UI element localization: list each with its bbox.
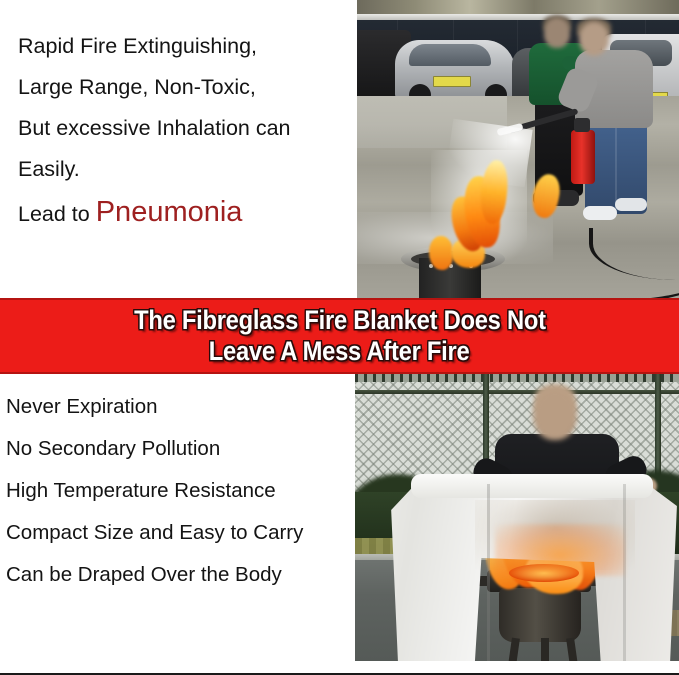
fire-extinguisher-demo-photo xyxy=(357,0,679,300)
warning-line-5: Lead to Pneumonia xyxy=(18,190,349,236)
fire-extinguisher xyxy=(571,130,595,184)
feature-list-block: Never Expiration No Secondary Pollution … xyxy=(0,374,357,673)
banner-line-2: Leave A Mess After Fire xyxy=(209,336,470,367)
headline-banner: The Fibreglass Fire Blanket Does Not Lea… xyxy=(0,298,679,374)
feature-item-1: Never Expiration xyxy=(6,386,353,428)
blurred-face xyxy=(544,18,570,48)
flame xyxy=(429,236,453,270)
blurred-face xyxy=(579,22,609,56)
product-infographic: Rapid Fire Extinguishing, Large Range, N… xyxy=(0,0,679,675)
warning-line-2: Large Range, Non-Toxic, xyxy=(18,67,349,108)
warning-line-1: Rapid Fire Extinguishing, xyxy=(18,26,349,67)
banner-line-1: The Fibreglass Fire Blanket Does Not xyxy=(134,305,546,336)
fire-blanket-demo-photo xyxy=(355,374,679,661)
warning-line-3: But excessive Inhalation can xyxy=(18,108,349,149)
feature-item-4: Compact Size and Easy to Carry xyxy=(6,512,353,554)
blurred-face xyxy=(533,388,577,440)
pneumonia-highlight: Pneumonia xyxy=(96,196,243,228)
feature-item-3: High Temperature Resistance xyxy=(6,470,353,512)
warning-text-block: Rapid Fire Extinguishing, Large Range, N… xyxy=(0,0,357,298)
feature-item-5: Can be Draped Over the Body xyxy=(6,554,353,596)
licence-plate xyxy=(433,76,471,87)
lead-to-label: Lead to xyxy=(18,202,96,226)
feature-item-2: No Secondary Pollution xyxy=(6,428,353,470)
warning-line-4: Easily. xyxy=(18,149,349,190)
